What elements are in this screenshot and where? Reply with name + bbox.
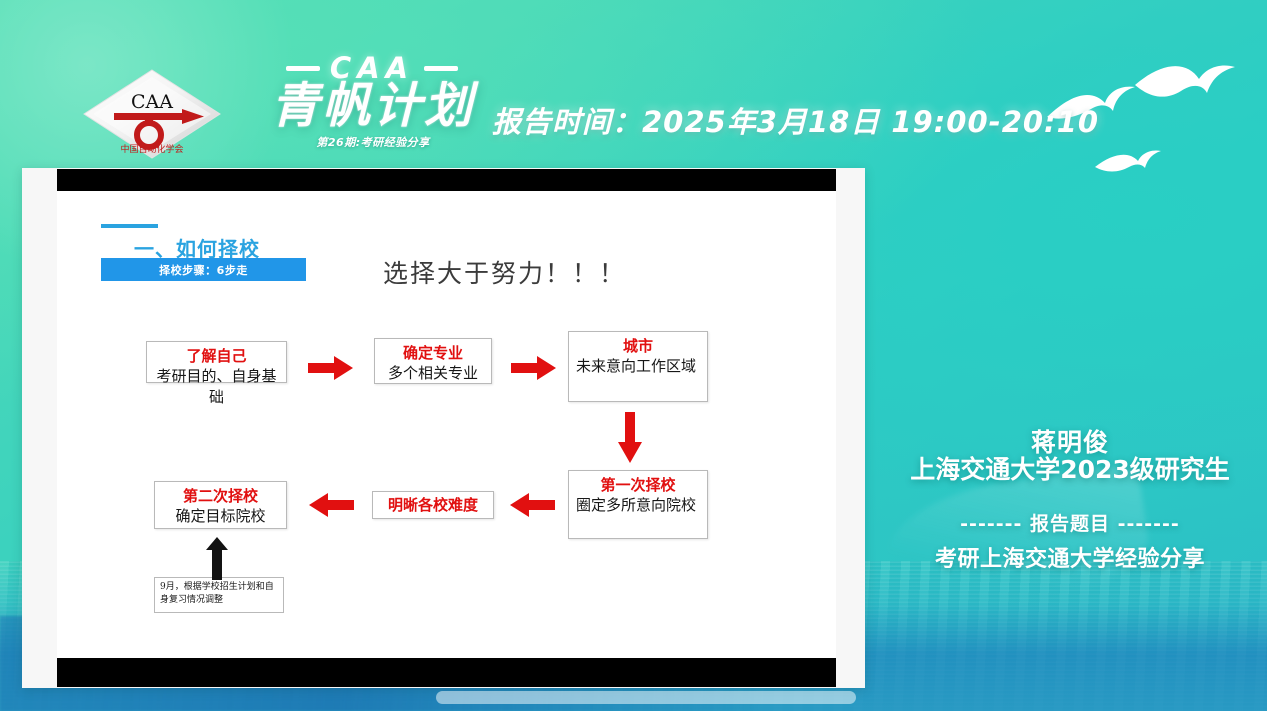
flow-box-5-title: 明晰各校难度 [388,495,478,515]
flow-box-1-desc: 考研目的、自身基础 [154,366,279,408]
flow-note-box: 9月，根据学校招生计划和自身复习情况调整 [154,577,284,613]
flow-box-3-title: 城市 [576,336,700,356]
flow-box-3: 城市 未来意向工作区域 [568,331,708,402]
caa-logo-icon: CAA 中国自动化学会 [82,68,222,160]
slide-letterbox-top [57,169,836,191]
accent-underline [101,224,158,228]
flow-box-4-desc: 圈定多所意向院校 [576,495,700,516]
svg-text:中国自动化学会: 中国自动化学会 [120,143,183,155]
flow-box-4: 第一次择校 圈定多所意向院校 [568,470,708,539]
brand-dash-right [424,66,458,71]
flow-box-2-title: 确定专业 [382,343,484,363]
flow-box-4-title: 第一次择校 [576,475,700,495]
arrow-left-icon-2 [308,492,354,518]
report-time-text: 报告时间：2025年3月18日 19:00-20:10 [492,99,1099,141]
arrow-left-icon-1 [509,492,555,518]
step-bar-label: 择校步骤：6步走 [159,262,248,278]
flow-box-1: 了解自己 考研目的、自身基础 [146,341,287,383]
flow-box-6-desc: 确定目标院校 [162,506,279,527]
flow-box-6: 第二次择校 确定目标院校 [154,481,287,529]
arrow-right-icon-2 [511,355,557,381]
slide-content-area: 一、如何择校 择校步骤：6步走 选择大于努力！！！ 了解自己 考研目的、自身基础… [57,191,836,658]
arrow-up-icon [205,536,229,580]
presentation-screen: CAA 中国自动化学会 CAA 青帆计划 第26期:考研经验分享 报告时间：20… [0,0,1267,711]
brand-dash-left [286,66,320,71]
svg-text:CAA: CAA [131,91,173,113]
flow-box-6-title: 第二次择校 [162,486,279,506]
slide-letterbox-bottom [57,658,836,687]
brand-subtitle: 第26期:考研经验分享 [258,134,488,150]
progress-bar[interactable] [436,691,856,704]
arrow-right-icon-1 [308,355,354,381]
topic-label: ------- 报告题目 ------- [885,509,1255,536]
brand-cn-title: 青帆计划 [258,80,488,132]
flow-box-2: 确定专业 多个相关专业 [374,338,492,384]
flow-box-1-title: 了解自己 [154,346,279,366]
flow-box-5: 明晰各校难度 [372,491,494,519]
flow-box-2-desc: 多个相关专业 [382,363,484,384]
header-banner: CAA 中国自动化学会 CAA 青帆计划 第26期:考研经验分享 报告时间：20… [0,0,1267,160]
arrow-down-icon [617,412,643,464]
flow-box-3-desc: 未来意向工作区域 [576,356,700,377]
speaker-affiliation: 上海交通大学2023级研究生 [885,450,1255,486]
slide-tagline: 选择大于努力！！！ [383,254,626,290]
step-bar-badge: 择校步骤：6步走 [101,258,306,281]
topic-title: 考研上海交通大学经验分享 [885,541,1255,573]
